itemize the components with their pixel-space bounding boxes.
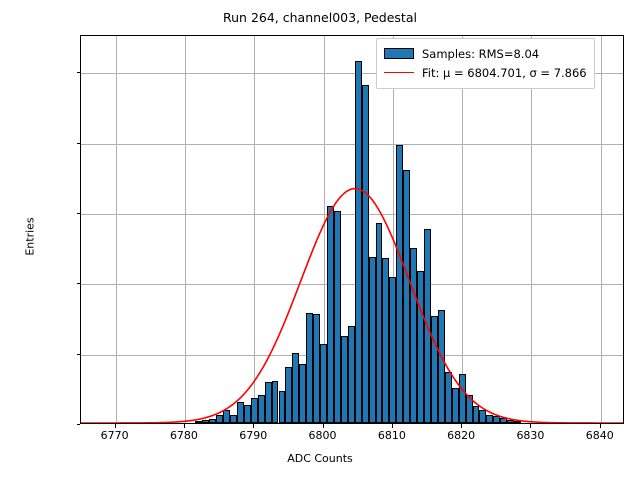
gaussian-fit-curve — [81, 36, 623, 423]
legend-label-samples: Samples: RMS=8.04 — [422, 47, 539, 61]
legend-label-fit: Fit: μ = 6804.701, σ = 7.866 — [422, 66, 587, 80]
y-axis-label: Entries — [24, 186, 37, 286]
legend-item-fit: Fit: μ = 6804.701, σ = 7.866 — [384, 63, 587, 82]
y-tick-mark — [77, 424, 81, 425]
legend-swatch-bar-icon — [384, 48, 414, 59]
x-tick-label: 6810 — [378, 429, 406, 442]
x-tick-label: 6770 — [101, 429, 129, 442]
x-tick-mark — [323, 424, 324, 428]
x-tick-mark — [253, 424, 254, 428]
x-tick-label: 6790 — [239, 429, 267, 442]
plot-area — [80, 35, 624, 424]
x-tick-label: 6830 — [516, 429, 544, 442]
legend-swatch-line-icon — [384, 72, 414, 73]
x-tick-label: 6800 — [309, 429, 337, 442]
x-tick-label: 6780 — [170, 429, 198, 442]
x-tick-mark — [392, 424, 393, 428]
x-axis-label: ADC Counts — [0, 452, 640, 465]
x-tick-mark — [600, 424, 601, 428]
chart-title: Run 264, channel003, Pedestal — [0, 10, 640, 25]
legend-item-samples: Samples: RMS=8.04 — [384, 44, 587, 63]
x-tick-mark — [184, 424, 185, 428]
x-tick-mark — [115, 424, 116, 428]
x-tick-mark — [530, 424, 531, 428]
matplotlib-figure: Run 264, channel003, Pedestal Entries AD… — [0, 0, 640, 480]
x-tick-mark — [461, 424, 462, 428]
x-tick-label: 6840 — [586, 429, 614, 442]
x-tick-label: 6820 — [447, 429, 475, 442]
legend: Samples: RMS=8.04 Fit: μ = 6804.701, σ =… — [376, 38, 595, 89]
